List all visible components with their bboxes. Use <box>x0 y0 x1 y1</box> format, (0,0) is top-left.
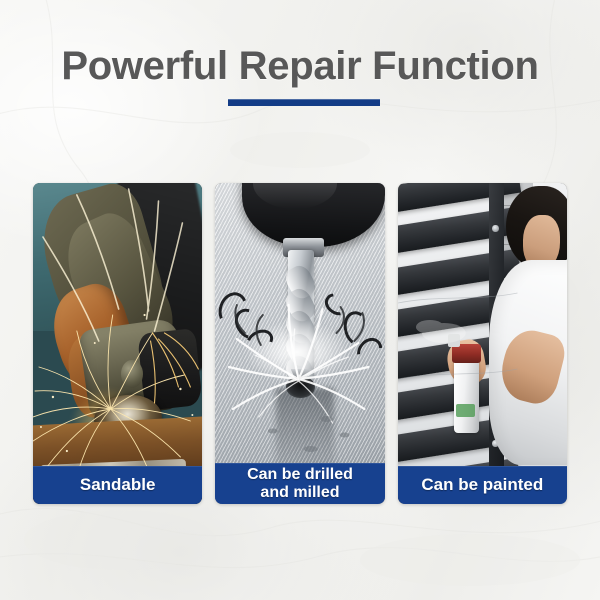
caption-line-2: and milled <box>260 484 339 501</box>
infographic-page: Powerful Repair Function <box>0 0 600 600</box>
spray-painting-photo <box>398 183 567 504</box>
panel-caption-drilled-milled: Can be drilled and milled <box>215 463 384 504</box>
feature-panel-sandable[interactable]: Sandable <box>33 183 202 504</box>
panel-caption-painted: Can be painted <box>398 466 567 504</box>
heading-block: Powerful Repair Function <box>0 44 600 88</box>
drill-bit-photo <box>215 183 384 504</box>
page-title: Powerful Repair Function <box>0 44 600 88</box>
caption-line-1: Can be drilled <box>247 466 353 483</box>
feature-panel-painted[interactable]: Can be painted <box>398 183 567 504</box>
feature-panel-row: Sandable <box>33 183 567 504</box>
grinder-sparks-photo <box>33 183 202 504</box>
panel-caption-text: Sandable <box>74 475 162 495</box>
title-underline-bar <box>228 99 380 106</box>
panel-caption-text: Can be drilled and milled <box>241 466 359 502</box>
panel-caption-sandable: Sandable <box>33 466 202 504</box>
panel-caption-text: Can be painted <box>415 475 549 495</box>
feature-panel-drilled-milled[interactable]: Can be drilled and milled <box>215 183 384 504</box>
